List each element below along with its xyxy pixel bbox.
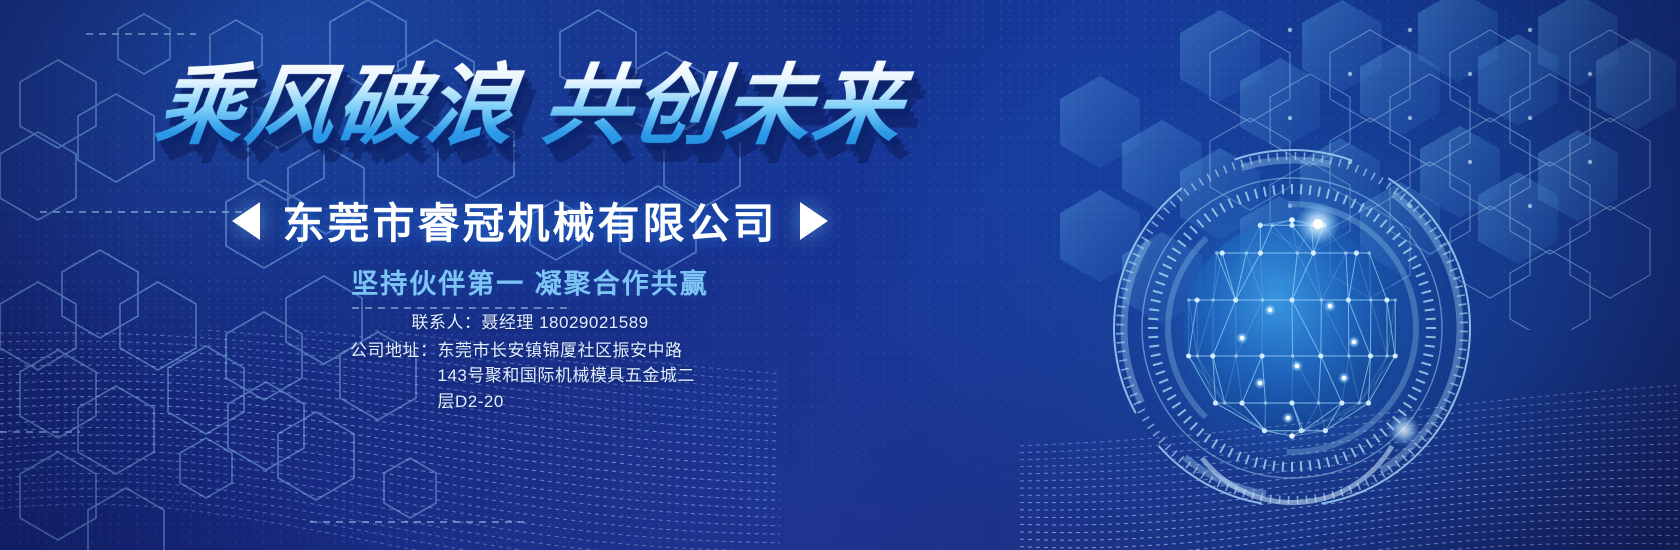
- left-triangle-icon: [232, 202, 260, 240]
- contact-person-line: 联系人：聂经理 18029021589: [411, 310, 648, 336]
- address-value: 东莞市长安镇锦厦社区振安中路143号聚和国际机械模具五金城二层D2-20: [438, 338, 711, 415]
- right-triangle-icon: [800, 202, 828, 240]
- wave-mesh-right: [1020, 340, 1680, 550]
- address-label: 公司地址：: [350, 338, 438, 364]
- banner-content: 乘风破浪 共创未来 东莞市睿冠机械有限公司 坚持伙伴第一 凝聚合作共赢 联系人：…: [0, 0, 1060, 550]
- page-title: 乘风破浪 共创未来: [0, 58, 1066, 153]
- company-name-row: 东莞市睿冠机械有限公司: [0, 190, 1060, 251]
- contact-info: 联系人：聂经理 18029021589 公司地址： 东莞市长安镇锦厦社区振安中路…: [0, 310, 1060, 414]
- promo-banner: 乘风破浪 共创未来 东莞市睿冠机械有限公司 坚持伙伴第一 凝聚合作共赢 联系人：…: [0, 0, 1680, 550]
- slogan-text: 坚持伙伴第一 凝聚合作共赢: [0, 262, 1060, 301]
- company-address-line: 公司地址： 东莞市长安镇锦厦社区振安中路143号聚和国际机械模具五金城二层D2-…: [350, 338, 710, 415]
- company-name: 东莞市睿冠机械有限公司: [282, 190, 777, 251]
